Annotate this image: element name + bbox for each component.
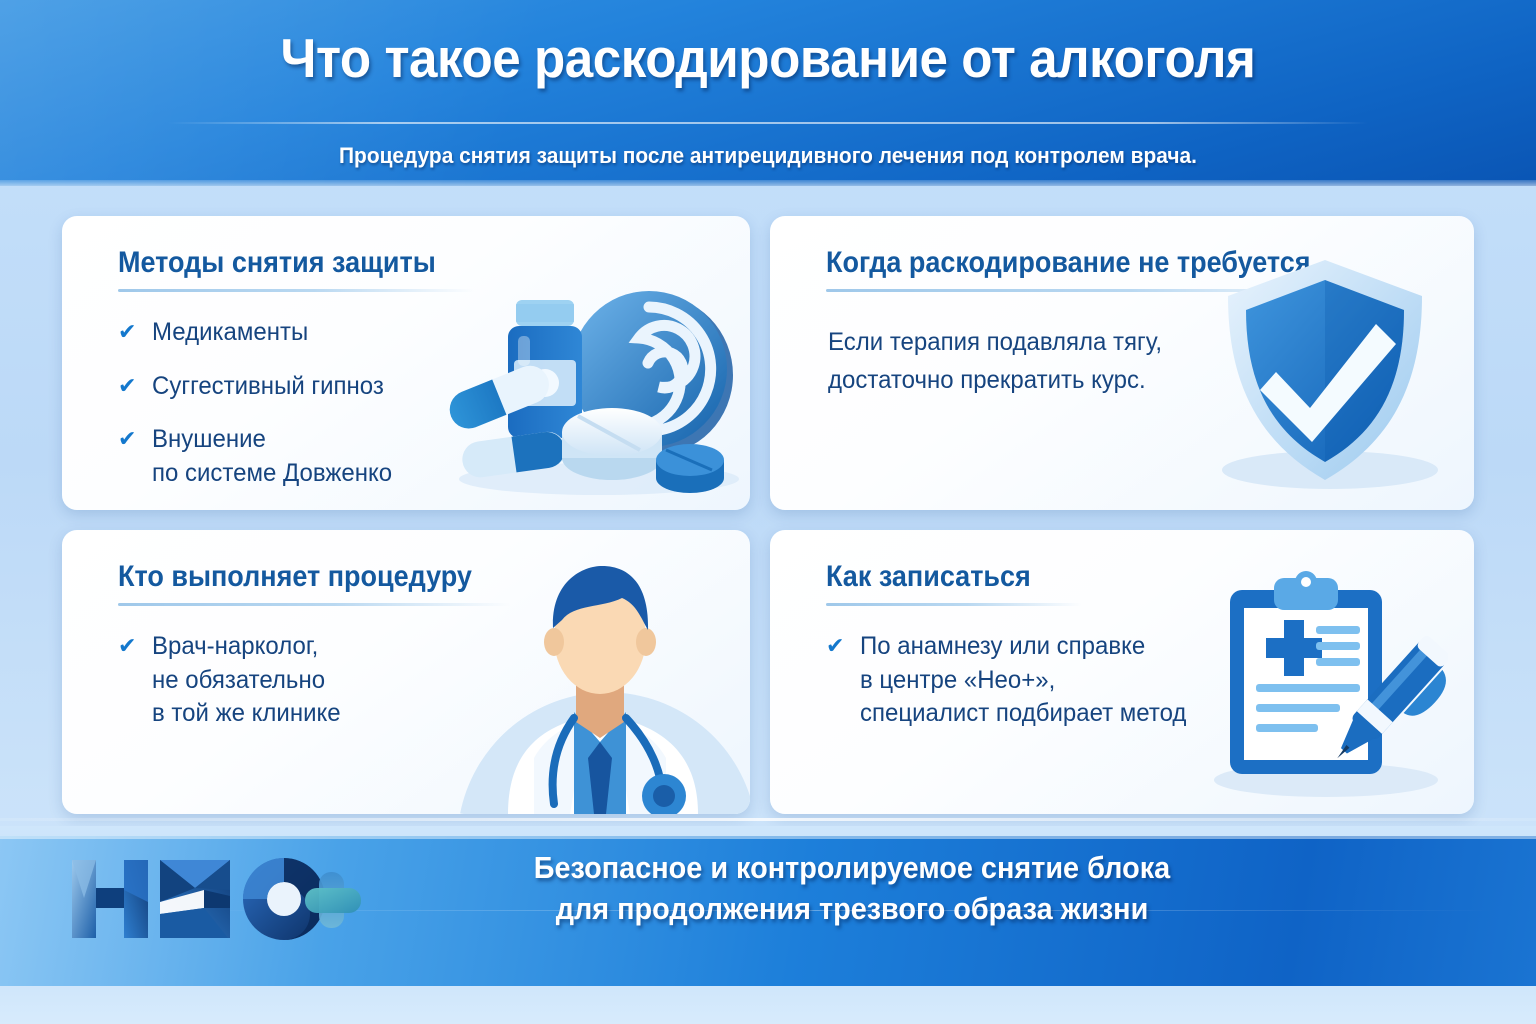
card-header: Когда раскодирование не требуется <box>826 246 1376 292</box>
card-not-required[interactable]: Когда раскодирование не требуется Если т… <box>770 216 1474 510</box>
check-icon: ✔ <box>118 428 142 450</box>
list-item: ✔ Внушение по системе Довженко <box>118 423 402 490</box>
check-icon: ✔ <box>826 635 850 657</box>
card-methods[interactable]: Методы снятия защиты ✔ Медикаменты ✔ Суг… <box>62 216 750 510</box>
infographic-poster: Что такое раскодирование от алкоголя Про… <box>0 0 1536 1024</box>
logo-letter-n <box>72 860 148 938</box>
list-item: ✔ Врач-нарколог, не обязательно в той же… <box>118 630 348 731</box>
footer-top-divider <box>0 818 1536 821</box>
footer-tagline: Безопасное и контролируемое снятие блока… <box>352 848 1352 930</box>
list-item-label: Суггестивный гипноз <box>152 370 384 404</box>
list-item-label: По анамнезу или справке в центре «Нео+»,… <box>860 630 1186 731</box>
title-underline <box>826 289 1376 292</box>
title-underline <box>118 289 474 292</box>
pills-and-spiral-icon <box>434 274 744 504</box>
list-item-label: Внушение по системе Довженко <box>152 423 392 490</box>
list-item-label: Врач-нарколог, не обязательно в той же к… <box>152 630 341 731</box>
footer-tagline-line1: Безопасное и контролируемое снятие блока <box>387 848 1317 889</box>
card-how-to-book[interactable]: Как записаться ✔ По анамнезу или справке… <box>770 530 1474 814</box>
cards-grid: Методы снятия защиты ✔ Медикаменты ✔ Суг… <box>62 216 1474 814</box>
title-underline <box>826 603 1082 606</box>
list-item: ✔ По анамнезу или справке в центре «Нео+… <box>826 630 1200 731</box>
card-header: Кто выполняет процедуру <box>118 560 511 606</box>
card-who-performs[interactable]: Кто выполняет процедуру ✔ Врач-нарколог,… <box>62 530 750 814</box>
card-header: Как записаться <box>826 560 1082 606</box>
logo-letter-e <box>160 860 230 938</box>
card-header: Методы снятия защиты <box>118 246 474 292</box>
list-item: ✔ Суггестивный гипноз <box>118 370 402 404</box>
check-icon: ✔ <box>118 375 142 397</box>
footer-tagline-line2: для продолжения трезвого образа жизни <box>387 889 1317 930</box>
card-title: Методы снятия защиты <box>118 246 438 280</box>
header-divider <box>168 122 1368 124</box>
title-underline <box>118 603 510 606</box>
card-title: Как записаться <box>826 560 1056 594</box>
bullet-list: ✔ По анамнезу или справке в центре «Нео+… <box>826 630 1200 751</box>
list-item: ✔ Медикаменты <box>118 316 402 350</box>
list-item-label: Медикаменты <box>152 316 308 350</box>
card-body-text: Если терапия подавляла тягу, достаточно … <box>828 324 1162 399</box>
header-banner: Что такое раскодирование от алкоголя Про… <box>0 0 1536 186</box>
card-title: Когда раскодирование не требуется <box>826 246 1321 280</box>
check-icon: ✔ <box>118 321 142 343</box>
page-subtitle: Процедура снятия защиты после антирециди… <box>38 143 1497 169</box>
check-icon: ✔ <box>118 635 142 657</box>
bullet-list: ✔ Медикаменты ✔ Суггестивный гипноз ✔ Вн… <box>118 316 402 510</box>
card-title: Кто выполняет процедуру <box>118 560 472 594</box>
neo-plus-logo[interactable] <box>62 850 362 948</box>
clipboard-pen-icon <box>1198 556 1448 806</box>
bullet-list: ✔ Врач-нарколог, не обязательно в той же… <box>118 630 348 751</box>
page-title: Что такое раскодирование от алкоголя <box>54 26 1482 90</box>
